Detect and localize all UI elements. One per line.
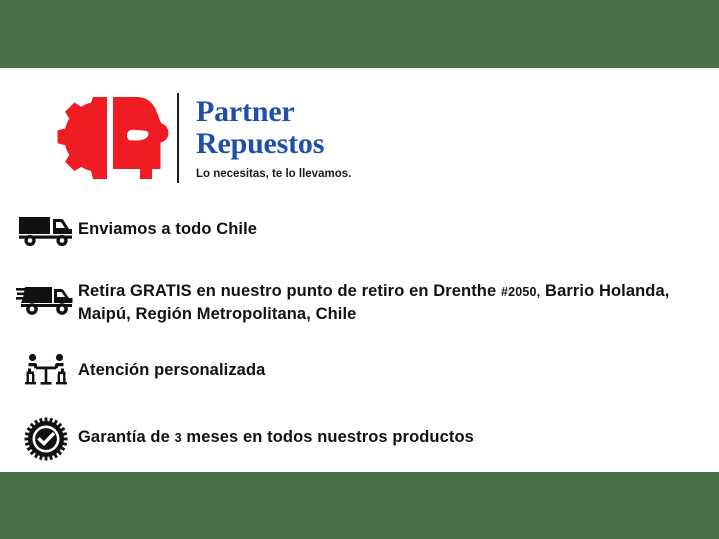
brand-line-2: Repuestos bbox=[196, 128, 351, 160]
white-content-area: Partner Repuestos Lo necesitas, te lo ll… bbox=[0, 68, 719, 472]
feature-row: Retira GRATIS en nuestro punto de retiro… bbox=[14, 278, 704, 325]
feature-list: Enviamos a todo Chile bbox=[14, 210, 704, 461]
logo-divider bbox=[177, 93, 179, 183]
brand-logo-block: Partner Repuestos Lo necesitas, te lo ll… bbox=[57, 93, 351, 183]
fast-truck-icon bbox=[14, 278, 78, 322]
feature-text: Retira GRATIS en nuestro punto de retiro… bbox=[78, 278, 704, 325]
gear-car-logo-icon bbox=[57, 93, 169, 183]
promo-banner: Partner Repuestos Lo necesitas, te lo ll… bbox=[0, 0, 719, 539]
brand-text: Partner Repuestos Lo necesitas, te lo ll… bbox=[196, 96, 351, 181]
delivery-truck-icon bbox=[14, 210, 78, 252]
people-at-table-icon bbox=[14, 351, 78, 391]
feature-text: Enviamos a todo Chile bbox=[78, 210, 704, 240]
feature-row: Enviamos a todo Chile bbox=[14, 210, 704, 252]
brand-tagline: Lo necesitas, te lo llevamos. bbox=[196, 167, 351, 181]
bottom-green-band bbox=[0, 472, 719, 539]
guarantee-badge-check-icon bbox=[14, 417, 78, 461]
feature-text: Garantía de 3 meses en todos nuestros pr… bbox=[78, 417, 704, 449]
feature-row: Garantía de 3 meses en todos nuestros pr… bbox=[14, 417, 704, 461]
feature-text: Atención personalizada bbox=[78, 351, 704, 381]
top-green-band bbox=[0, 0, 719, 68]
brand-line-1: Partner bbox=[196, 96, 351, 128]
feature-row: Atención personalizada bbox=[14, 351, 704, 391]
